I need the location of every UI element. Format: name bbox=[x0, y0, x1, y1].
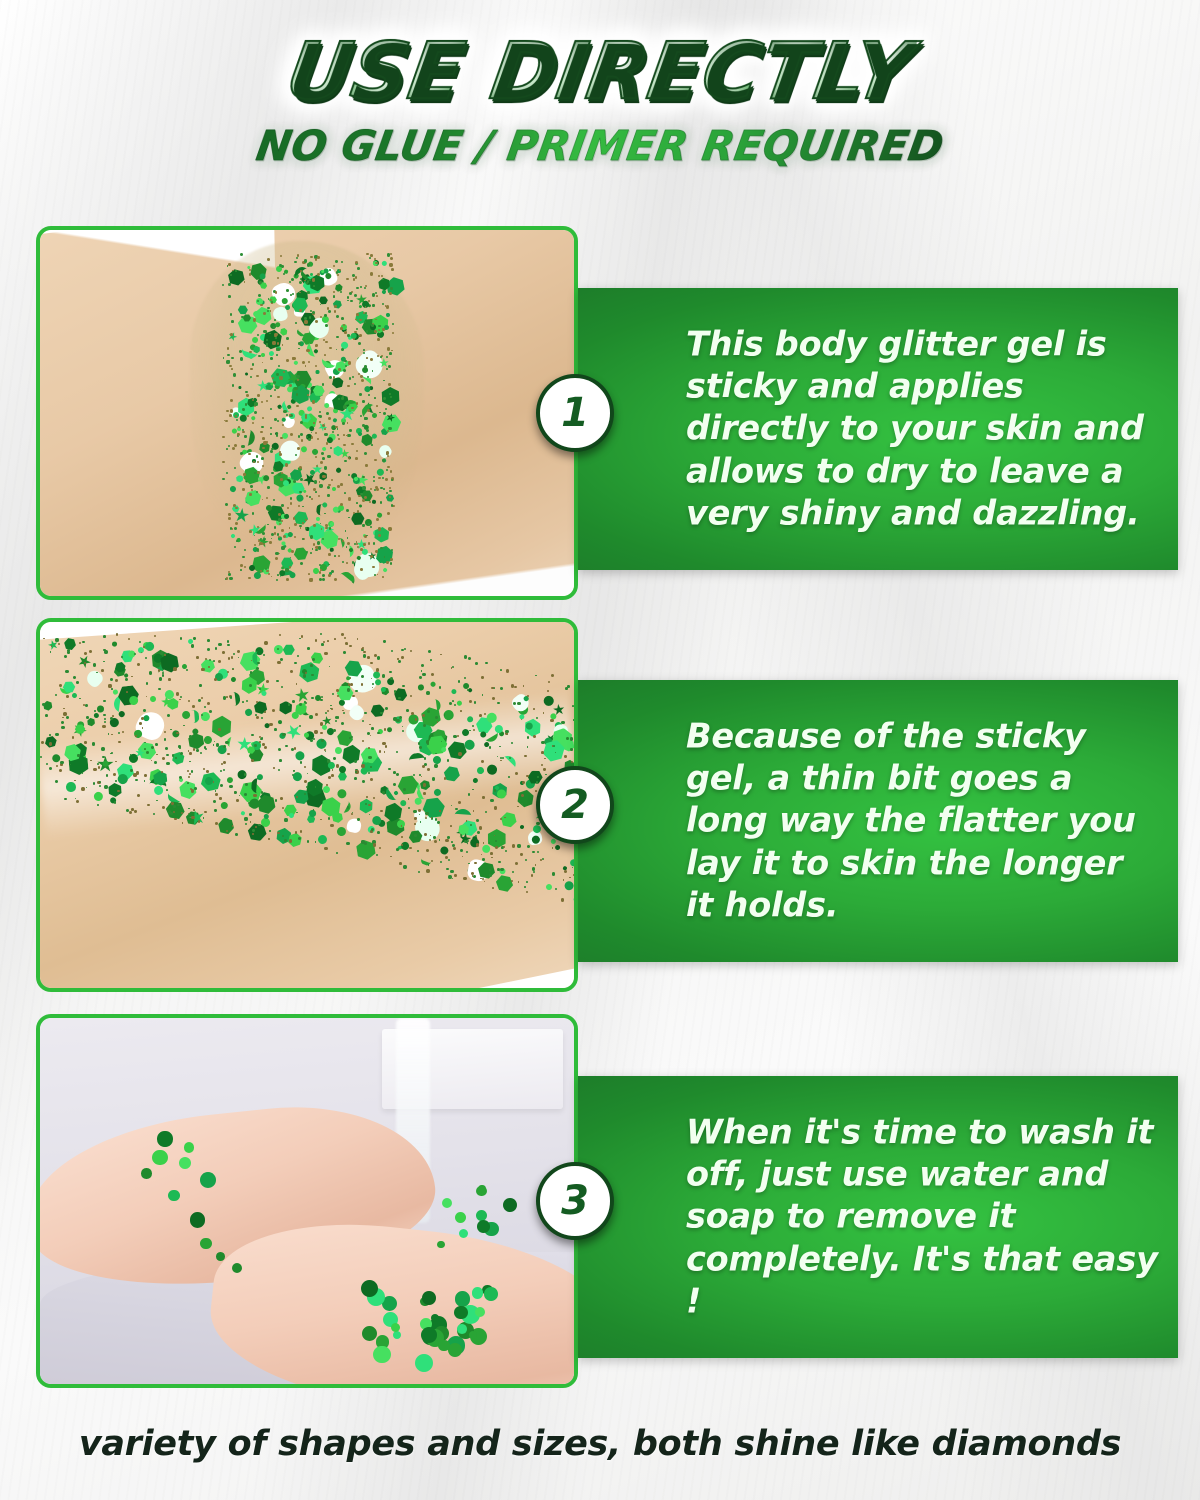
step-1-photo bbox=[36, 226, 578, 600]
step-1-text: This body glitter gel is sticky and appl… bbox=[686, 323, 1158, 534]
step-3-text: When it's time to wash it off, just use … bbox=[686, 1111, 1158, 1322]
step-row-2: Because of the sticky gel, a thin bit go… bbox=[0, 618, 1200, 992]
footer-caption: variety of shapes and sizes, both shine … bbox=[0, 1424, 1200, 1464]
step-1-photo-image bbox=[40, 230, 574, 596]
page-subtitle: NO GLUE / PRIMER REQUIRED bbox=[253, 122, 947, 170]
step-row-3: When it's time to wash it off, just use … bbox=[0, 1014, 1200, 1388]
step-3-caption-band: When it's time to wash it off, just use … bbox=[578, 1076, 1178, 1358]
step-2-photo bbox=[36, 618, 578, 992]
step-2-number: 2 bbox=[561, 785, 589, 825]
step-3-photo bbox=[36, 1014, 578, 1388]
step-1-caption-band: This body glitter gel is sticky and appl… bbox=[578, 288, 1178, 570]
step-1-number-badge: 1 bbox=[536, 374, 614, 452]
step-2-text: Because of the sticky gel, a thin bit go… bbox=[686, 715, 1158, 926]
page-title: USE DIRECTLY bbox=[282, 34, 918, 110]
step-3-number: 3 bbox=[561, 1181, 589, 1221]
step-2-caption-band: Because of the sticky gel, a thin bit go… bbox=[578, 680, 1178, 962]
step-1-number: 1 bbox=[561, 393, 589, 433]
step-2-number-badge: 2 bbox=[536, 766, 614, 844]
step-2-photo-image bbox=[40, 622, 574, 988]
step-row-1: This body glitter gel is sticky and appl… bbox=[0, 226, 1200, 600]
header-block: USE DIRECTLY NO GLUE / PRIMER REQUIRED bbox=[0, 34, 1200, 170]
step-3-number-badge: 3 bbox=[536, 1162, 614, 1240]
step-3-photo-image bbox=[40, 1018, 574, 1384]
